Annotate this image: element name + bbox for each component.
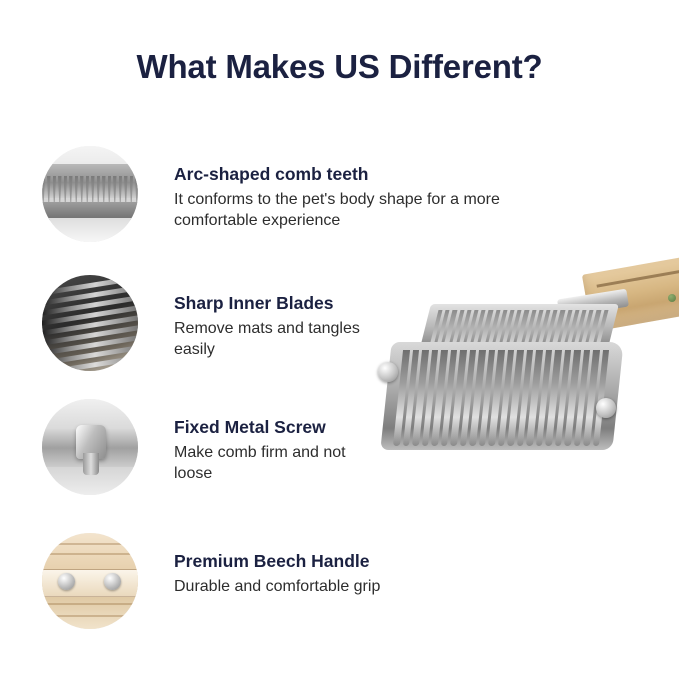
feature-description: Durable and comfortable grip bbox=[174, 576, 380, 597]
feature-text-block: Fixed Metal Screw Make comb firm and not… bbox=[174, 399, 374, 484]
main-comb-teeth bbox=[393, 350, 609, 446]
comb-teeth-closeup-icon bbox=[42, 146, 138, 242]
feature-row-premium-beech-handle: Premium Beech Handle Durable and comfort… bbox=[42, 533, 602, 629]
feature-row-arc-shaped-comb-teeth: Arc-shaped comb teeth It conforms to the… bbox=[42, 146, 602, 242]
page-title: What Makes US Different? bbox=[0, 48, 679, 86]
feature-title: Arc-shaped comb teeth bbox=[174, 164, 554, 185]
inner-blades-closeup-icon bbox=[42, 275, 138, 371]
feature-title: Premium Beech Handle bbox=[174, 551, 380, 572]
feature-text-block: Sharp Inner Blades Remove mats and tangl… bbox=[174, 275, 374, 360]
handle-rivet bbox=[668, 294, 676, 302]
feature-text-block: Premium Beech Handle Durable and comfort… bbox=[174, 533, 380, 597]
metal-screw-closeup-icon bbox=[42, 399, 138, 495]
beech-handle-closeup-icon bbox=[42, 533, 138, 629]
feature-description: Remove mats and tangles easily bbox=[174, 318, 374, 360]
fixed-metal-screw-left bbox=[378, 362, 398, 382]
infographic-page: What Makes US Different? Arc-shaped comb… bbox=[0, 0, 679, 679]
feature-description: It conforms to the pet's body shape for … bbox=[174, 189, 554, 231]
feature-text-block: Arc-shaped comb teeth It conforms to the… bbox=[174, 146, 554, 231]
feature-description: Make comb firm and not loose bbox=[174, 442, 374, 484]
top-comb-teeth bbox=[430, 310, 609, 346]
product-photo bbox=[372, 258, 679, 498]
feature-title: Sharp Inner Blades bbox=[174, 293, 374, 314]
fixed-metal-screw-right bbox=[596, 398, 616, 418]
feature-title: Fixed Metal Screw bbox=[174, 417, 374, 438]
